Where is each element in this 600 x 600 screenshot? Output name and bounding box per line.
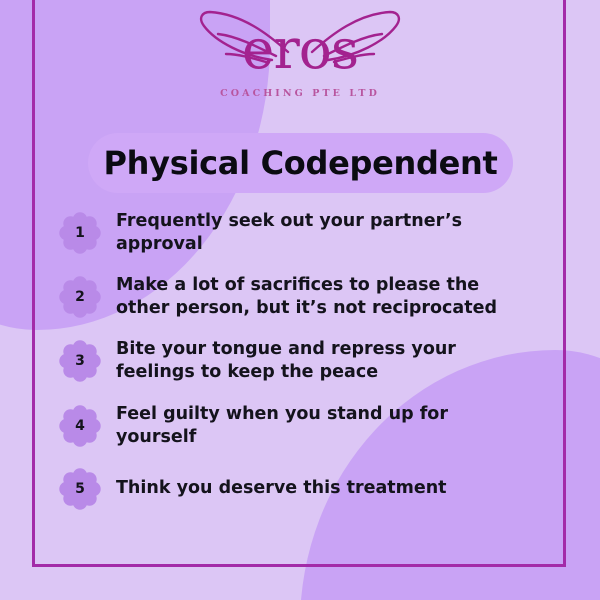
badge-number: 5	[75, 481, 85, 497]
number-badge: 2	[58, 275, 102, 319]
brand-logo: eros COACHING PTE LTD	[0, 6, 600, 116]
list-item-text: Bite your tongue and repress your feelin…	[116, 338, 534, 384]
title-banner: Physical Codependent	[88, 133, 513, 193]
list-item: 4 Feel guilty when you stand up for your…	[58, 403, 538, 449]
list-item: 2 Make a lot of sacrifices to please the…	[58, 274, 538, 320]
list-item: 3 Bite your tongue and repress your feel…	[58, 338, 538, 384]
logo-wordmark: eros	[180, 22, 420, 77]
badge-number: 3	[75, 353, 85, 369]
number-badge: 5	[58, 467, 102, 511]
poster-canvas: eros COACHING PTE LTD Physical Codepende…	[0, 0, 600, 600]
badge-number: 1	[75, 225, 85, 241]
logo-mark: eros	[180, 6, 420, 92]
number-badge: 1	[58, 211, 102, 255]
list-item: 1 Frequently seek out your partner’s app…	[58, 210, 538, 256]
list-item-text: Make a lot of sacrifices to please the o…	[116, 274, 534, 320]
number-badge: 3	[58, 339, 102, 383]
number-badge: 4	[58, 404, 102, 448]
list-item-text: Frequently seek out your partner’s appro…	[116, 210, 534, 256]
badge-number: 2	[75, 289, 85, 305]
codependent-signs-list: 1 Frequently seek out your partner’s app…	[58, 210, 538, 529]
badge-number: 4	[75, 418, 85, 434]
list-item: 5 Think you deserve this treatment	[58, 467, 538, 511]
list-item-text: Feel guilty when you stand up for yourse…	[116, 403, 534, 449]
page-title: Physical Codependent	[104, 144, 498, 182]
list-item-text: Think you deserve this treatment	[116, 477, 447, 500]
